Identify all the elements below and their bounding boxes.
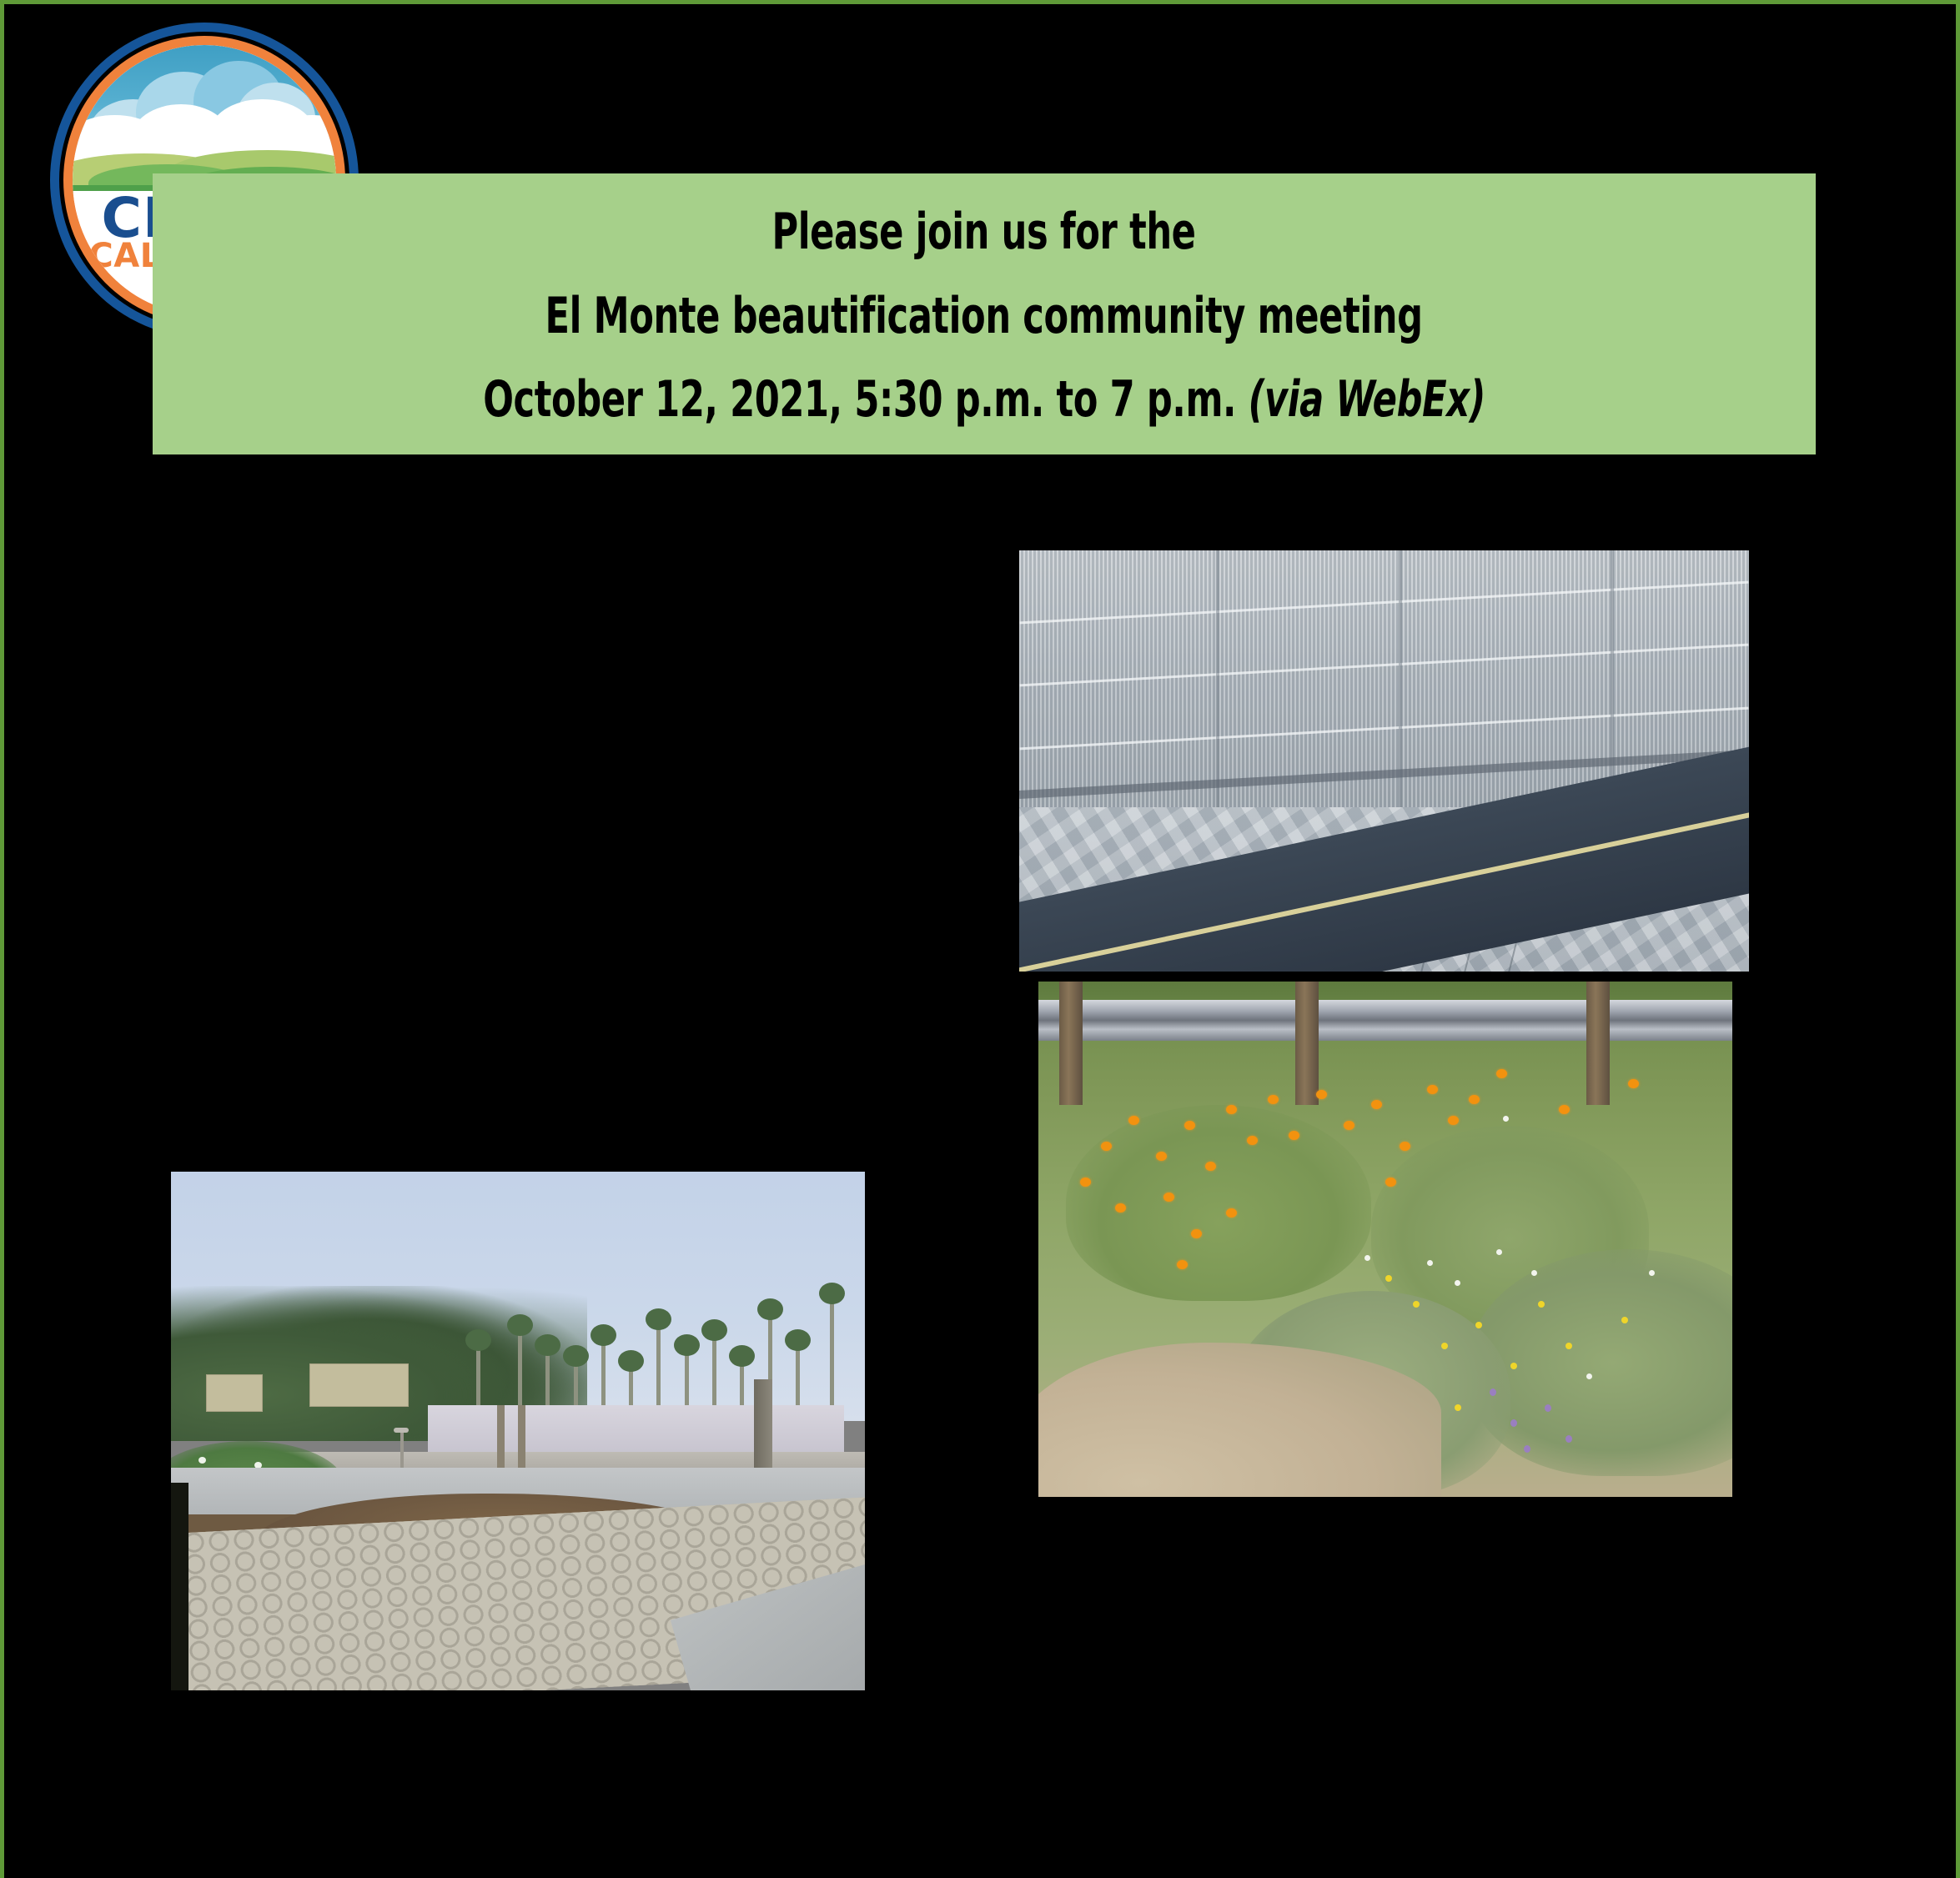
poppy-flower bbox=[1128, 1116, 1139, 1125]
yellow-flower bbox=[1441, 1343, 1448, 1349]
poppy-flower bbox=[1226, 1105, 1237, 1114]
purple-flower bbox=[1510, 1419, 1517, 1427]
guardrail-post bbox=[1586, 982, 1610, 1105]
poppy-flower bbox=[1427, 1085, 1438, 1094]
guardrail-post bbox=[1059, 982, 1083, 1105]
poppy-flower bbox=[1385, 1178, 1396, 1187]
yellow-flower bbox=[1455, 1404, 1461, 1411]
yellow-flower bbox=[1565, 1343, 1572, 1349]
building bbox=[309, 1363, 408, 1407]
poppy-flower bbox=[1469, 1095, 1480, 1104]
bare-soil-area bbox=[1038, 1343, 1441, 1497]
poppy-flower bbox=[1191, 1229, 1202, 1238]
poppy-flower bbox=[1448, 1116, 1459, 1125]
white-flower bbox=[1364, 1255, 1370, 1261]
white-sound-wall bbox=[428, 1405, 844, 1457]
poppy-flower bbox=[1289, 1131, 1299, 1140]
photo-edge-shadow bbox=[171, 1483, 188, 1690]
poppy-flower bbox=[1205, 1162, 1216, 1171]
white-flower bbox=[1586, 1373, 1592, 1379]
photo-soundwall-sidewalk bbox=[1019, 550, 1749, 972]
announcement-line-3: October 12, 2021, 5:30 p.m. to 7 p.m. (v… bbox=[483, 370, 1485, 429]
announcement-line-2: El Monte beautification community meetin… bbox=[545, 287, 1423, 345]
poppy-flower bbox=[1101, 1142, 1112, 1151]
photo-cobblestone-landscape bbox=[171, 1172, 865, 1690]
poppy-flower bbox=[1268, 1095, 1279, 1104]
poppy-flower bbox=[1226, 1208, 1237, 1218]
announcement-datetime: October 12, 2021, 5:30 p.m. to 7 p.m. bbox=[483, 370, 1248, 429]
announcement-banner: Please join us for the El Monte beautifi… bbox=[153, 173, 1816, 454]
purple-flower bbox=[1490, 1388, 1496, 1396]
yellow-flower bbox=[1475, 1322, 1482, 1328]
slide-canvas: CLEAN CALIFORNIA Please join us for the … bbox=[0, 0, 1960, 1878]
building bbox=[206, 1374, 264, 1413]
metal-guardrail bbox=[1038, 1000, 1732, 1041]
poppy-flower bbox=[1184, 1121, 1195, 1130]
poppy-flower bbox=[1316, 1090, 1327, 1099]
poppy-flower bbox=[1115, 1203, 1126, 1213]
poppy-flower bbox=[1080, 1178, 1091, 1187]
white-flower bbox=[1531, 1270, 1537, 1276]
wall-joint bbox=[1611, 550, 1614, 811]
announcement-line-1: Please join us for the bbox=[772, 203, 1196, 261]
poppy-flower bbox=[1344, 1121, 1354, 1130]
poppy-flower bbox=[1177, 1260, 1188, 1269]
wall-joint bbox=[1216, 550, 1219, 811]
guardrail-post bbox=[1295, 982, 1319, 1105]
announcement-text-block: Please join us for the El Monte beautifi… bbox=[153, 173, 1816, 454]
yellow-flower bbox=[1621, 1317, 1628, 1323]
photo-wildflowers-guardrail bbox=[1038, 982, 1732, 1497]
poppy-clump bbox=[1066, 1105, 1371, 1301]
white-flower bbox=[1427, 1260, 1433, 1266]
poppy-flower bbox=[1400, 1142, 1410, 1151]
announcement-platform: (via WebEx) bbox=[1249, 370, 1485, 429]
poppy-flower bbox=[1247, 1136, 1258, 1145]
